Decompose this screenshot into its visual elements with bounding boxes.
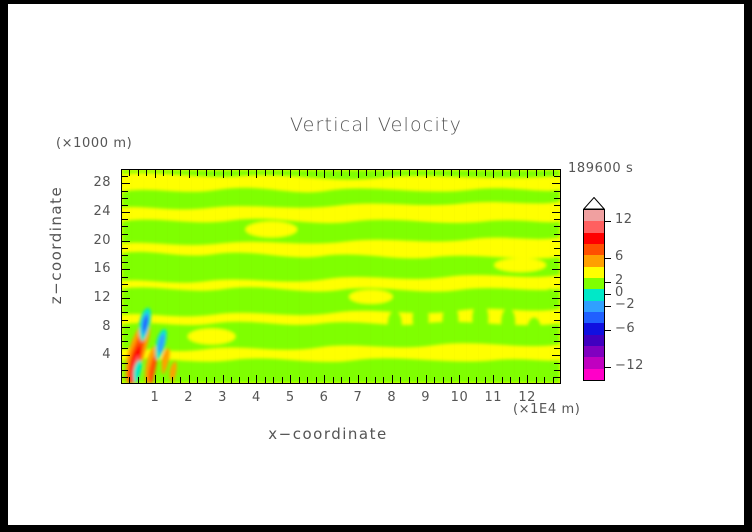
y-minor-tick <box>554 305 560 306</box>
y-minor-tick <box>554 262 560 263</box>
x-minor-tick <box>434 170 435 176</box>
x-minor-tick <box>383 170 384 176</box>
x-minor-tick <box>316 377 317 383</box>
x-minor-tick <box>519 377 520 383</box>
y-major-tick <box>122 212 130 213</box>
colorbar-label: −6 <box>615 321 635 336</box>
x-minor-tick <box>231 377 232 383</box>
x-minor-tick <box>231 170 232 176</box>
x-minor-tick <box>299 377 300 383</box>
x-minor-tick <box>273 170 274 176</box>
x-minor-tick <box>409 377 410 383</box>
x-minor-tick <box>375 377 376 383</box>
x-minor-tick <box>163 377 164 383</box>
colorbar-segment <box>584 312 604 323</box>
x-minor-tick <box>316 170 317 176</box>
y-axis-unit-label: (×1000 m) <box>56 136 132 151</box>
y-minor-tick <box>122 284 128 285</box>
x-major-tick <box>426 375 427 383</box>
x-minor-tick <box>214 170 215 176</box>
y-tick-label: 8 <box>77 319 111 334</box>
y-minor-tick <box>122 377 128 378</box>
y-minor-tick <box>122 277 128 278</box>
image-frame: Vertical Velocity (×1000 m) 189600 s <box>0 0 752 532</box>
plot-canvas: Vertical Velocity (×1000 m) 189600 s <box>8 4 744 525</box>
y-minor-tick <box>122 341 128 342</box>
x-major-tick <box>290 375 291 383</box>
colorbar-tick <box>605 282 611 283</box>
x-major-tick <box>459 170 460 178</box>
y-tick-label: 24 <box>77 204 111 219</box>
x-minor-tick <box>443 377 444 383</box>
x-minor-tick <box>409 170 410 176</box>
x-major-tick <box>358 375 359 383</box>
colorbar-segment <box>584 357 604 368</box>
y-minor-tick <box>122 305 128 306</box>
x-major-tick <box>189 170 190 178</box>
colorbar-label: 6 <box>615 249 624 264</box>
y-major-tick <box>122 355 130 356</box>
x-minor-tick <box>163 170 164 176</box>
x-minor-tick <box>400 377 401 383</box>
x-minor-tick <box>349 170 350 176</box>
x-major-tick <box>324 375 325 383</box>
x-minor-tick <box>172 170 173 176</box>
y-minor-tick <box>554 198 560 199</box>
y-major-tick <box>552 241 560 242</box>
x-minor-tick <box>239 377 240 383</box>
x-minor-tick <box>553 377 554 383</box>
x-major-tick <box>392 170 393 178</box>
y-major-tick <box>552 298 560 299</box>
colorbar-segment <box>584 267 604 278</box>
y-major-tick <box>122 298 130 299</box>
y-minor-tick <box>554 205 560 206</box>
x-minor-tick <box>451 377 452 383</box>
y-minor-tick <box>554 291 560 292</box>
x-minor-tick <box>366 170 367 176</box>
y-minor-tick <box>554 248 560 249</box>
x-minor-tick <box>333 377 334 383</box>
y-minor-tick <box>554 370 560 371</box>
x-minor-tick <box>239 170 240 176</box>
y-minor-tick <box>122 205 128 206</box>
x-minor-tick <box>485 377 486 383</box>
y-minor-tick <box>122 198 128 199</box>
y-minor-tick <box>554 219 560 220</box>
x-minor-tick <box>248 170 249 176</box>
x-minor-tick <box>146 170 147 176</box>
y-axis-title: z−coordinate <box>47 165 65 325</box>
x-minor-tick <box>299 170 300 176</box>
y-minor-tick <box>554 363 560 364</box>
x-minor-tick <box>510 170 511 176</box>
colorbar-segment <box>584 323 604 334</box>
colorbar-segment <box>584 221 604 232</box>
y-tick-label: 20 <box>77 233 111 248</box>
colorbar-segment <box>584 278 604 289</box>
x-minor-tick <box>502 170 503 176</box>
x-major-tick <box>527 170 528 178</box>
x-major-tick <box>256 375 257 383</box>
x-minor-tick <box>468 377 469 383</box>
y-minor-tick <box>122 234 128 235</box>
x-major-tick <box>189 375 190 383</box>
y-minor-tick <box>122 334 128 335</box>
x-major-tick <box>493 170 494 178</box>
x-minor-tick <box>417 170 418 176</box>
x-axis-title: x−coordinate <box>8 425 648 443</box>
y-major-tick <box>552 212 560 213</box>
y-major-tick <box>122 183 130 184</box>
y-minor-tick <box>554 377 560 378</box>
y-minor-tick <box>122 219 128 220</box>
y-minor-tick <box>122 226 128 227</box>
colorbar-segment <box>584 289 604 300</box>
x-minor-tick <box>476 170 477 176</box>
x-minor-tick <box>519 170 520 176</box>
y-minor-tick <box>554 284 560 285</box>
x-major-tick <box>290 170 291 178</box>
y-major-tick <box>552 355 560 356</box>
colorbar-tick <box>605 367 611 368</box>
y-minor-tick <box>122 262 128 263</box>
colorbar-tick <box>605 306 611 307</box>
x-minor-tick <box>129 170 130 176</box>
x-minor-tick <box>536 377 537 383</box>
y-minor-tick <box>122 348 128 349</box>
x-major-tick <box>527 375 528 383</box>
y-minor-tick <box>122 291 128 292</box>
colorbar-tick <box>605 258 611 259</box>
colorbar-label: −2 <box>615 297 635 312</box>
x-minor-tick <box>138 170 139 176</box>
x-minor-tick <box>400 170 401 176</box>
x-minor-tick <box>197 377 198 383</box>
colorbar-segment <box>584 210 604 221</box>
x-minor-tick <box>273 377 274 383</box>
y-major-tick <box>122 241 130 242</box>
x-minor-tick <box>333 170 334 176</box>
x-minor-tick <box>536 170 537 176</box>
x-minor-tick <box>206 377 207 383</box>
contour-plot-area <box>121 169 561 384</box>
y-minor-tick <box>554 312 560 313</box>
x-minor-tick <box>138 377 139 383</box>
x-minor-tick <box>180 170 181 176</box>
y-major-tick <box>552 183 560 184</box>
x-major-tick <box>256 170 257 178</box>
y-tick-label: 16 <box>77 261 111 276</box>
x-minor-tick <box>172 377 173 383</box>
x-major-tick <box>223 375 224 383</box>
x-major-tick <box>392 375 393 383</box>
x-minor-tick <box>434 377 435 383</box>
x-major-tick <box>223 170 224 178</box>
x-minor-tick <box>417 377 418 383</box>
x-minor-tick <box>383 377 384 383</box>
y-minor-tick <box>554 334 560 335</box>
x-minor-tick <box>341 170 342 176</box>
x-minor-tick <box>451 170 452 176</box>
colorbar-label: −12 <box>615 358 644 373</box>
x-minor-tick <box>544 170 545 176</box>
y-minor-tick <box>122 363 128 364</box>
x-major-tick <box>426 170 427 178</box>
y-major-tick <box>122 269 130 270</box>
x-minor-tick <box>307 377 308 383</box>
x-minor-tick <box>553 170 554 176</box>
y-tick-label: 28 <box>77 175 111 190</box>
y-major-tick <box>552 327 560 328</box>
colorbar-segment <box>584 369 604 380</box>
y-major-tick <box>122 327 130 328</box>
colorbar-label: 12 <box>615 212 633 227</box>
x-axis-unit-label: (×1E4 m) <box>513 402 580 417</box>
colorbar-segment <box>584 233 604 244</box>
x-major-tick <box>459 375 460 383</box>
colorbar-tick <box>605 294 611 295</box>
x-minor-tick <box>476 377 477 383</box>
x-minor-tick <box>282 170 283 176</box>
x-minor-tick <box>349 377 350 383</box>
y-minor-tick <box>554 341 560 342</box>
x-minor-tick <box>129 377 130 383</box>
x-minor-tick <box>502 377 503 383</box>
y-minor-tick <box>554 320 560 321</box>
y-minor-tick <box>122 312 128 313</box>
colorbar-gradient <box>583 209 605 381</box>
x-major-tick <box>493 375 494 383</box>
x-minor-tick <box>375 170 376 176</box>
x-major-tick <box>155 170 156 178</box>
y-minor-tick <box>554 234 560 235</box>
x-minor-tick <box>366 377 367 383</box>
x-minor-tick <box>341 377 342 383</box>
x-minor-tick <box>544 377 545 383</box>
x-minor-tick <box>282 377 283 383</box>
chart-title: Vertical Velocity <box>8 114 744 136</box>
y-minor-tick <box>554 191 560 192</box>
y-minor-tick <box>554 255 560 256</box>
time-annotation: 189600 s <box>568 161 633 176</box>
x-minor-tick <box>206 170 207 176</box>
x-minor-tick <box>307 170 308 176</box>
x-minor-tick <box>180 377 181 383</box>
y-minor-tick <box>122 191 128 192</box>
y-minor-tick <box>122 248 128 249</box>
colorbar-segment <box>584 244 604 255</box>
y-minor-tick <box>122 255 128 256</box>
x-minor-tick <box>248 377 249 383</box>
colorbar-segment <box>584 301 604 312</box>
x-minor-tick <box>485 170 486 176</box>
y-minor-tick <box>554 348 560 349</box>
vertical-velocity-field <box>122 170 560 383</box>
x-minor-tick <box>197 170 198 176</box>
colorbar-segment <box>584 255 604 266</box>
y-major-tick <box>552 269 560 270</box>
colorbar-tick <box>605 330 611 331</box>
x-minor-tick <box>443 170 444 176</box>
y-minor-tick <box>122 320 128 321</box>
x-minor-tick <box>214 377 215 383</box>
y-tick-label: 4 <box>77 347 111 362</box>
colorbar-segment <box>584 335 604 346</box>
y-minor-tick <box>554 226 560 227</box>
y-minor-tick <box>122 370 128 371</box>
y-minor-tick <box>554 277 560 278</box>
x-minor-tick <box>468 170 469 176</box>
x-major-tick <box>358 170 359 178</box>
x-minor-tick <box>265 170 266 176</box>
x-minor-tick <box>510 377 511 383</box>
y-tick-label: 12 <box>77 290 111 305</box>
colorbar-tick <box>605 221 611 222</box>
y-minor-tick <box>554 176 560 177</box>
x-major-tick <box>324 170 325 178</box>
y-minor-tick <box>122 176 128 177</box>
colorbar-segment <box>584 346 604 357</box>
x-minor-tick <box>146 377 147 383</box>
x-minor-tick <box>265 377 266 383</box>
x-major-tick <box>155 375 156 383</box>
